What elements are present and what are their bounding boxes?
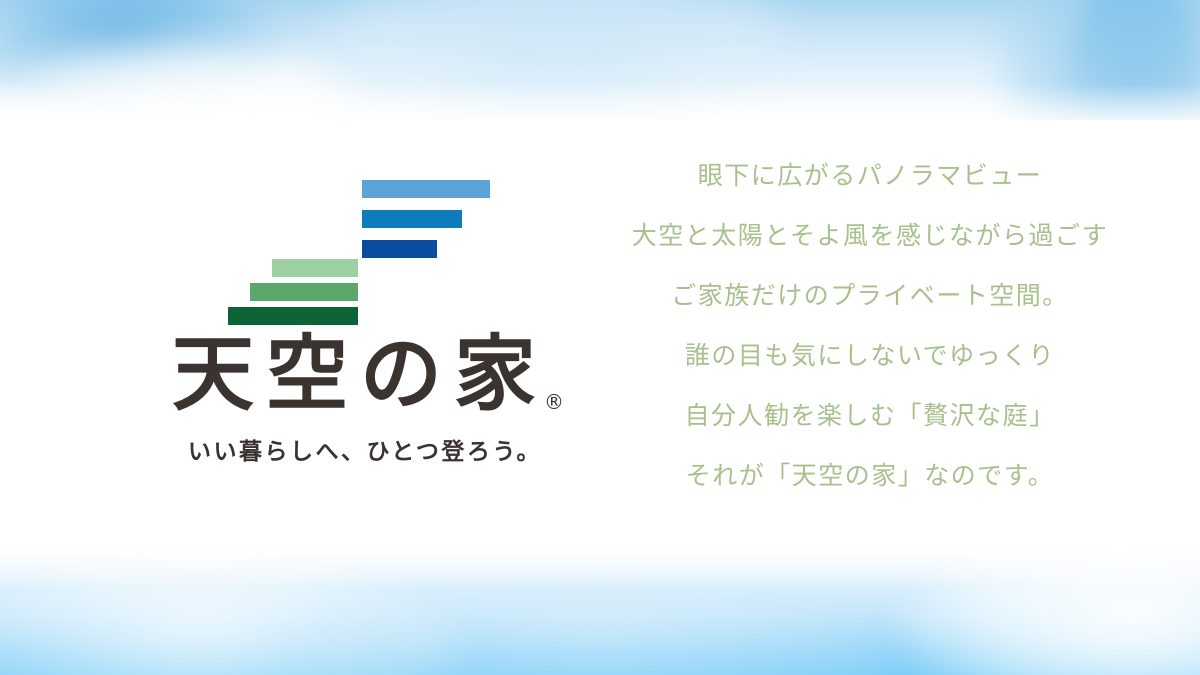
bar-blue-light — [362, 180, 490, 198]
registered-trademark-icon: ® — [544, 392, 564, 412]
bar-blue-dark — [362, 240, 437, 258]
bar-green-dark — [228, 307, 358, 325]
copy-line: ご家族だけのプライベート空間。 — [620, 283, 1120, 308]
brand-name-kanji: 天空の家 — [166, 334, 548, 416]
marketing-copy: 眼下に広がるパノラマビュー 大空と太陽とそよ風を感じながら過ごす ご家族だけのプ… — [620, 163, 1120, 488]
copy-line: それが「天空の家」なのです。 — [620, 463, 1120, 488]
bar-blue-medium — [362, 210, 462, 228]
copy-line: 眼下に広がるパノラマビュー — [620, 163, 1120, 188]
stacked-steps-mark — [175, 168, 555, 320]
brand-wordmark: 天空の家 ® — [175, 334, 555, 416]
copy-line: 誰の目も気にしないでゆっくり — [620, 343, 1120, 368]
brand-tagline: いい暮らしへ、ひとつ登ろう。 — [175, 432, 555, 466]
slide-canvas: 天空の家 ® いい暮らしへ、ひとつ登ろう。 眼下に広がるパノラマビュー 大空と太… — [0, 0, 1200, 675]
copy-line: 大空と太陽とそよ風を感じながら過ごす — [620, 223, 1120, 248]
slide-content: 天空の家 ® いい暮らしへ、ひとつ登ろう。 眼下に広がるパノラマビュー 大空と太… — [0, 0, 1200, 675]
copy-line: 自分人勧を楽しむ「贅沢な庭」 — [620, 403, 1120, 428]
bar-green-medium — [250, 283, 358, 301]
brand-lockup: 天空の家 ® いい暮らしへ、ひとつ登ろう。 — [175, 168, 555, 466]
bar-green-light — [272, 259, 358, 277]
